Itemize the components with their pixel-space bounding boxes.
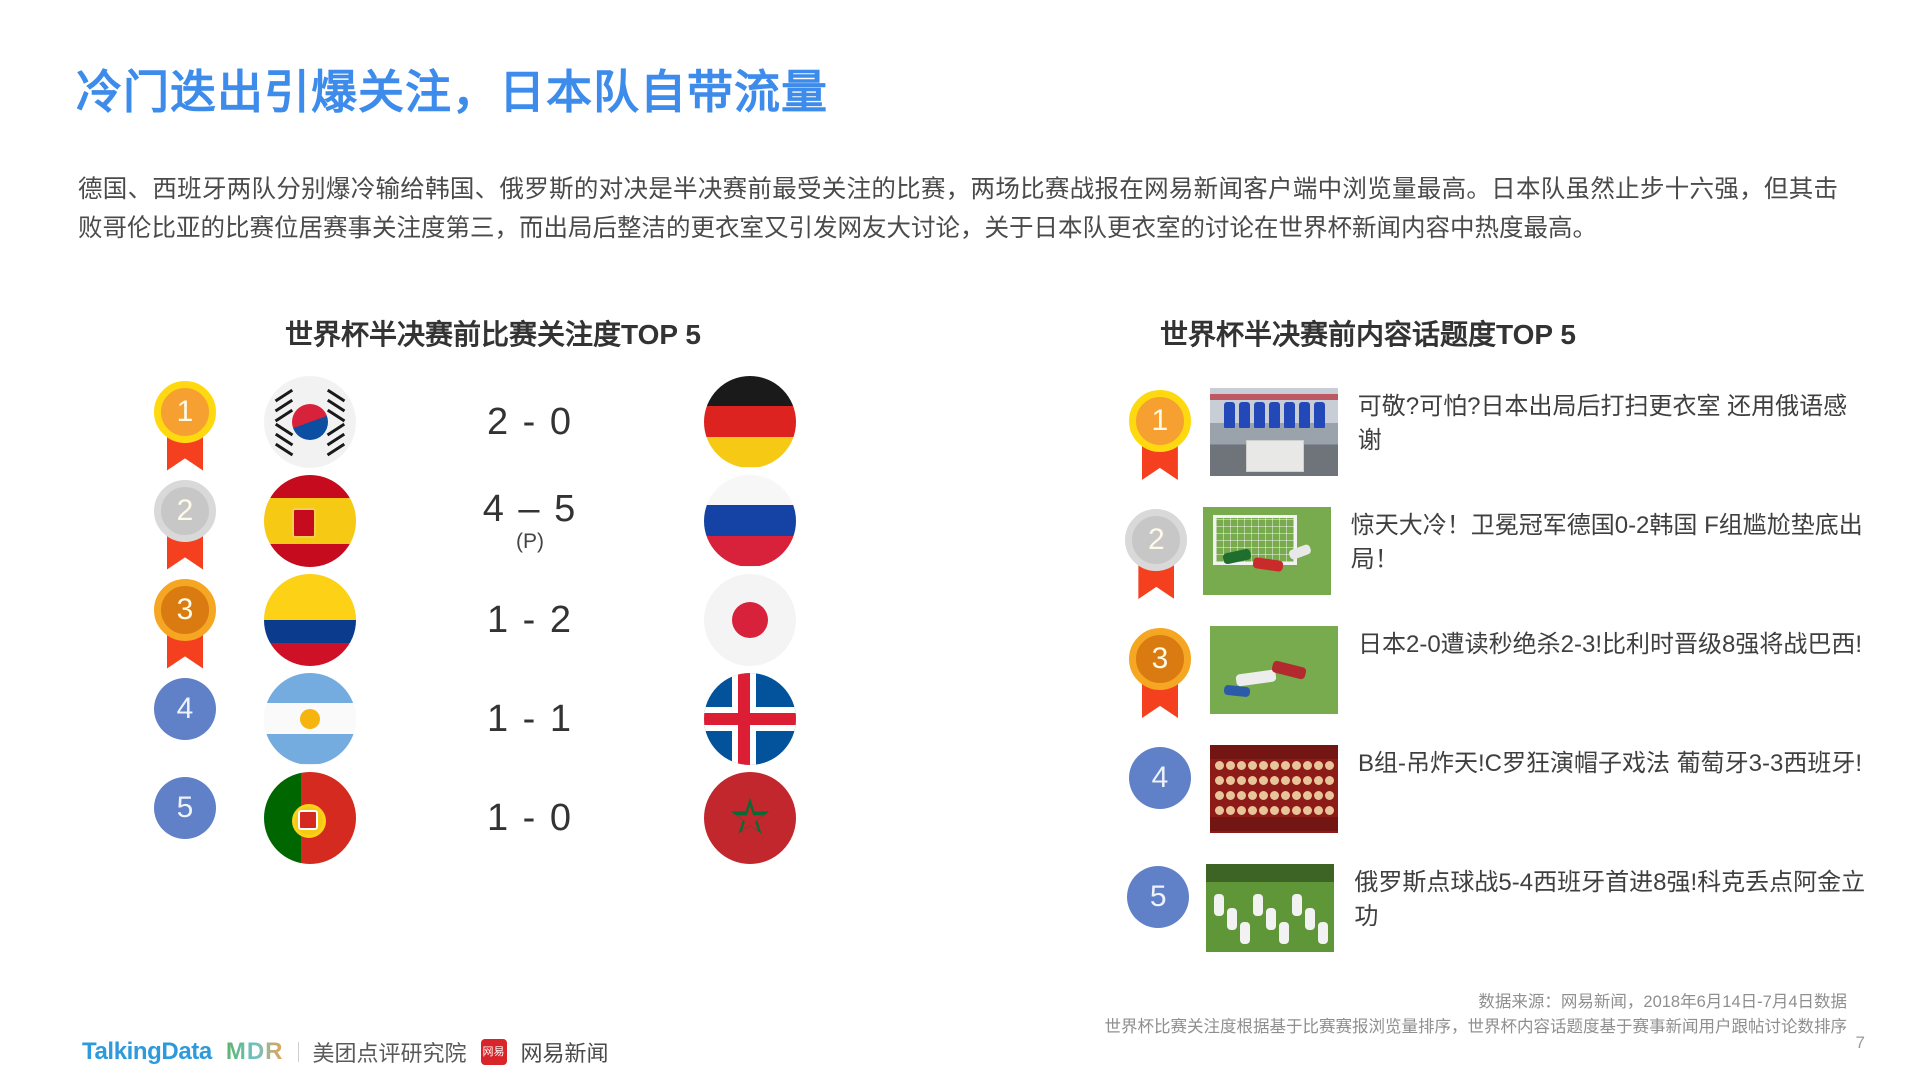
intro-paragraph: 德国、西班牙两队分别爆冷输给韩国、俄罗斯的对决是半决赛前最受关注的比赛，两场比赛… [78,170,1838,248]
medal-silver-icon: 2 [154,480,216,542]
footnote-source: 数据来源：网易新闻，2018年6月14日-7月4日数据 [1105,990,1848,1015]
news-rank-cell: 3 [1110,626,1210,714]
news-thumbnail-locker-room-photo [1210,388,1338,476]
mdr-chinese-label: 美团点评研究院 [313,1036,467,1068]
away-team-flag-cell [680,574,820,666]
flag-japan-icon [704,574,796,666]
match-rank-cell: 1 [130,377,240,467]
rank-badge-5-match: 5 [154,777,216,863]
rank-badge-3-news: 3 [1129,628,1191,714]
netease-mark-icon: 网易 [481,1039,507,1065]
flag-morocco-icon [704,772,796,864]
match-rank-cell: 5 [130,773,240,863]
flag-portugal-icon [264,772,356,864]
match-row[interactable]: 51 - 0 [130,768,820,867]
rank-badge-2-match: 2 [154,480,216,566]
left-column-header: 世界杯半决赛前比赛关注度TOP 5 [285,313,701,353]
medal-silver-icon: 2 [1125,509,1187,571]
news-row[interactable]: 3日本2-0遭读秒绝杀2-3!比利时晋级8强将战巴西! [1110,626,1870,745]
home-team-flag-cell [240,673,380,765]
flag-colombia-icon [264,574,356,666]
medal-gold-icon: 1 [154,381,216,443]
mdr-logo: MDR [226,1038,284,1066]
right-column-header: 世界杯半决赛前内容话题度TOP 5 [1160,313,1576,353]
match-score-cell: 2 - 0 [380,401,680,443]
match-score: 1 - 2 [380,599,680,641]
rank-badge-5-news: 5 [1127,866,1189,952]
match-rank-cell: 2 [130,476,240,566]
logo-divider [298,1042,299,1062]
medal-bronze-icon: 3 [154,579,216,641]
news-row[interactable]: 5俄罗斯点球战5-4西班牙首进8强!科克丢点阿金立功 [1110,864,1870,983]
page-number: 7 [1856,1033,1865,1053]
match-rank-cell: 3 [130,575,240,665]
home-team-flag-cell [240,772,380,864]
netease-news-label: 网易新闻 [521,1036,609,1068]
news-rank-cell: 5 [1110,864,1206,952]
medal-bronze-icon: 3 [1129,628,1191,690]
news-headline[interactable]: 可敬?可怕?日本出局后打扫更衣室 还用俄语感谢 [1358,388,1870,458]
rank-badge-4-news: 4 [1129,747,1191,833]
match-score: 1 - 1 [380,698,680,740]
match-rank-cell: 4 [130,674,240,764]
news-ranking-list: 1可敬?可怕?日本出局后打扫更衣室 还用俄语感谢2惊天大冷！卫冕冠军德国0-2韩… [1110,388,1870,983]
away-team-flag-cell [680,673,820,765]
home-team-flag-cell [240,574,380,666]
match-score-note: (P) [380,530,680,554]
match-score-cell: 1 - 1 [380,698,680,740]
rank-circle-icon: 4 [154,678,216,740]
away-team-flag-cell [680,772,820,864]
match-ranking-list: 12 - 024 – 5(P)31 - 241 - 151 - 0 [130,372,820,867]
news-thumbnail-red-crowd-photo [1210,745,1338,833]
page-title: 冷门迭出引爆关注，日本队自带流量 [76,56,828,122]
home-team-flag-cell [240,376,380,468]
match-score: 4 – 5 [380,488,680,530]
match-score-cell: 1 - 0 [380,797,680,839]
rank-badge-1-match: 1 [154,381,216,467]
match-score-cell: 1 - 2 [380,599,680,641]
news-headline[interactable]: B组-吊炸天!C罗狂演帽子戏法 葡萄牙3-3西班牙! [1358,745,1862,781]
news-row[interactable]: 1可敬?可怕?日本出局后打扫更衣室 还用俄语感谢 [1110,388,1870,507]
flag-spain-icon [264,475,356,567]
medal-gold-icon: 1 [1129,390,1191,452]
news-headline[interactable]: 俄罗斯点球战5-4西班牙首进8强!科克丢点阿金立功 [1354,864,1870,934]
flag-korea-icon [264,376,356,468]
match-row[interactable]: 12 - 0 [130,372,820,471]
flag-iceland-icon [704,673,796,765]
rank-circle-icon: 4 [1129,747,1191,809]
news-rank-cell: 4 [1110,745,1210,833]
rank-badge-4-match: 4 [154,678,216,764]
match-score: 1 - 0 [380,797,680,839]
flag-argentina-icon [264,673,356,765]
rank-badge-2-news: 2 [1125,509,1187,595]
news-thumbnail-celebration-photo [1206,864,1334,952]
news-rank-cell: 2 [1110,507,1203,595]
rank-badge-3-match: 3 [154,579,216,665]
away-team-flag-cell [680,475,820,567]
rank-badge-1-news: 1 [1129,390,1191,476]
news-rank-cell: 1 [1110,388,1210,476]
news-headline[interactable]: 日本2-0遭读秒绝杀2-3!比利时晋级8强将战巴西! [1358,626,1862,662]
footnote: 数据来源：网易新闻，2018年6月14日-7月4日数据 世界杯比赛关注度根据基于… [1105,990,1848,1040]
news-row[interactable]: 4B组-吊炸天!C罗狂演帽子戏法 葡萄牙3-3西班牙! [1110,745,1870,864]
match-row[interactable]: 24 – 5(P) [130,471,820,570]
rank-circle-icon: 5 [154,777,216,839]
rank-circle-icon: 5 [1127,866,1189,928]
news-headline[interactable]: 惊天大冷！卫冕冠军德国0-2韩国 F组尴尬垫底出局！ [1351,507,1870,577]
news-thumbnail-goalmouth-save-photo [1203,507,1331,595]
match-score: 2 - 0 [380,401,680,443]
away-team-flag-cell [680,376,820,468]
flag-russia-icon [704,475,796,567]
flag-germany-icon [704,376,796,468]
footnote-method: 世界杯比赛关注度根据基于比赛赛报浏览量排序，世界杯内容话题度基于赛事新闻用户跟帖… [1105,1015,1848,1040]
news-thumbnail-players-on-pitch-photo [1210,626,1338,714]
match-row[interactable]: 41 - 1 [130,669,820,768]
logo-bar: TalkingData MDR 美团点评研究院 网易 网易新闻 [82,1036,609,1068]
news-row[interactable]: 2惊天大冷！卫冕冠军德国0-2韩国 F组尴尬垫底出局！ [1110,507,1870,626]
match-row[interactable]: 31 - 2 [130,570,820,669]
home-team-flag-cell [240,475,380,567]
talkingdata-logo: TalkingData [82,1038,212,1066]
match-score-cell: 4 – 5(P) [380,488,680,554]
